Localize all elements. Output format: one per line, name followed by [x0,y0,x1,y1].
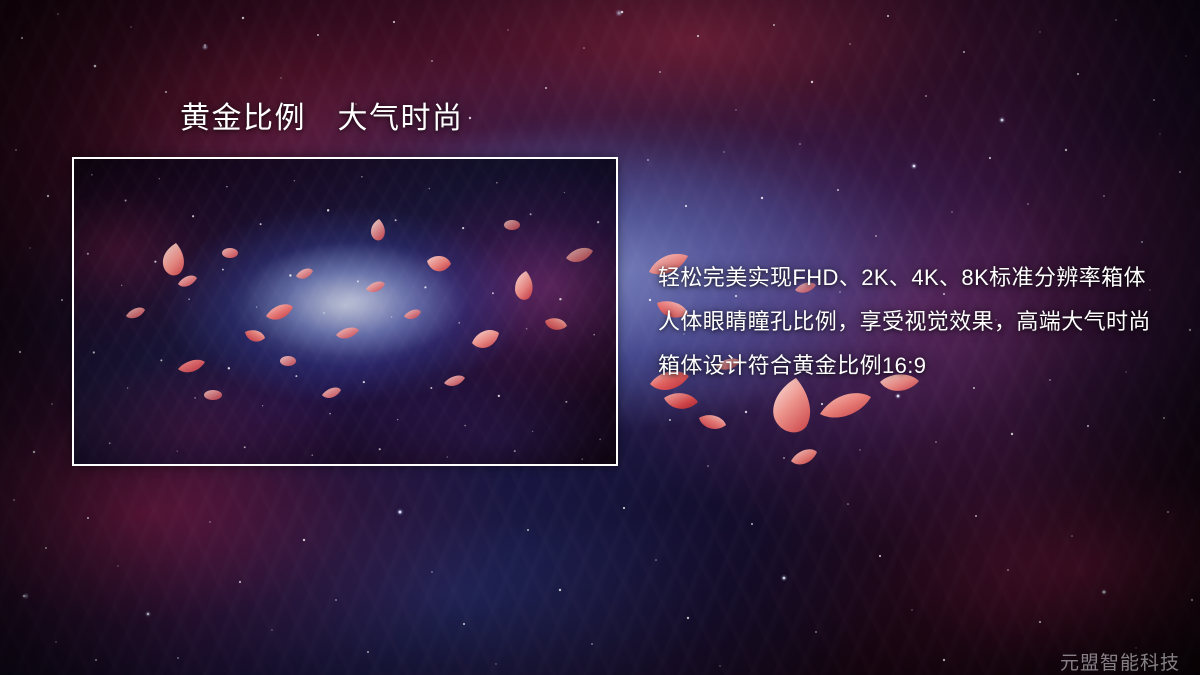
body-line-2: 人体眼睛瞳孔比例，享受视觉效果，高端大气时尚 [658,300,1178,344]
slide-canvas: 黄金比例 大气时尚 轻松完美实现FHD、2K、4K、8K标准分辨率箱体 人体眼睛… [0,0,1200,675]
body-line-3: 箱体设计符合黄金比例16:9 [658,344,1178,388]
petal-large-d [663,390,699,414]
petal-large-g [790,448,818,468]
petal-large-h [697,414,727,434]
inset-vignette [74,159,616,464]
body-copy: 轻松完美实现FHD、2K、4K、8K标准分辨率箱体 人体眼睛瞳孔比例，享受视觉效… [658,256,1178,388]
inset-nebula-image [74,159,616,464]
body-line-1: 轻松完美实现FHD、2K、4K、8K标准分辨率箱体 [658,256,1178,300]
page-title: 黄金比例 大气时尚 [180,102,464,137]
framed-preview[interactable] [72,157,618,466]
watermark: 元盟智能科技 [1060,648,1180,675]
petal-large-f [820,392,872,422]
